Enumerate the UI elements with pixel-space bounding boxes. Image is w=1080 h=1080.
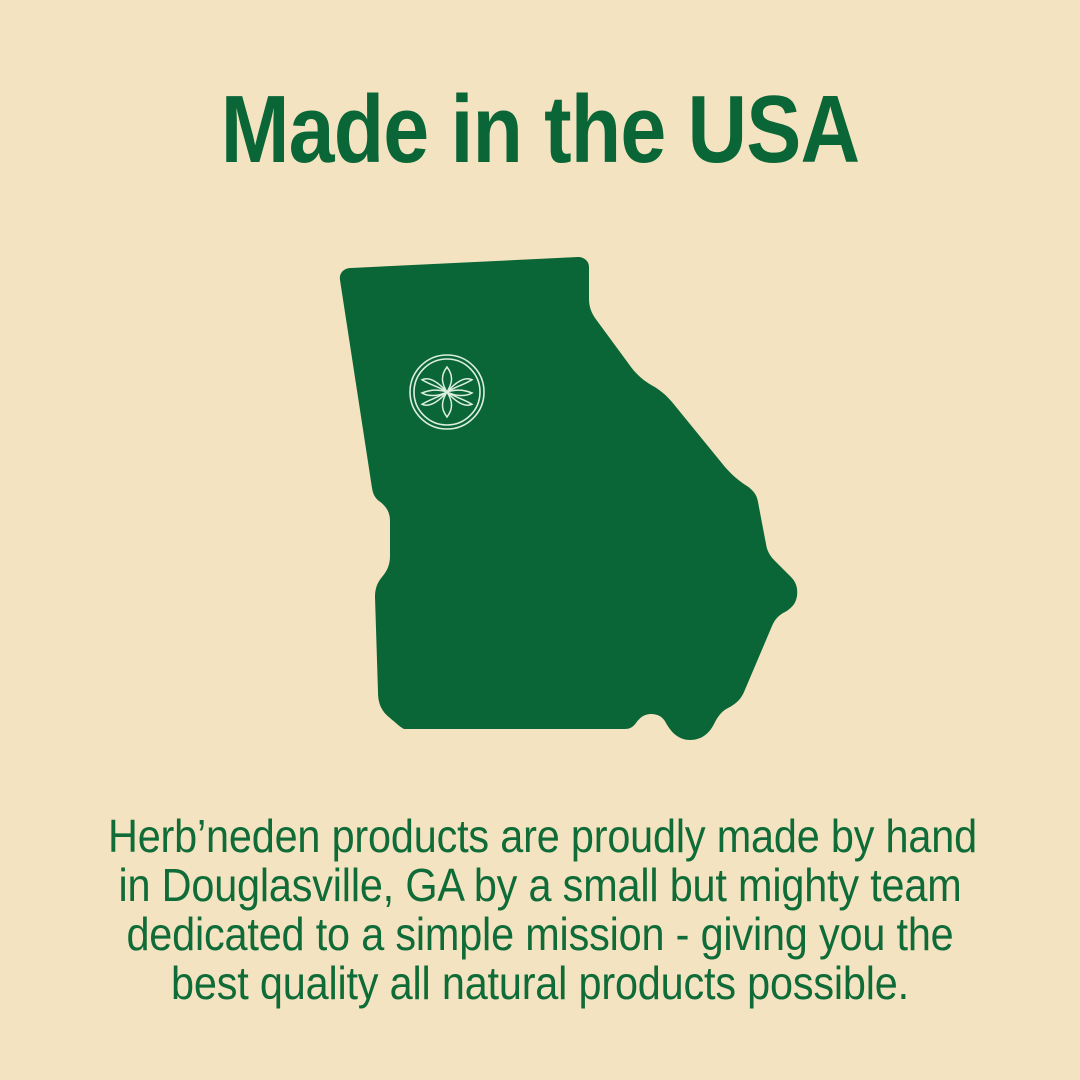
description-line-2: in Douglasville, GA by a small but might… — [108, 861, 972, 910]
description-line-4: best quality all natural products possib… — [108, 959, 972, 1008]
page-title: Made in the USA — [76, 78, 1005, 182]
georgia-map-illustration — [320, 240, 820, 760]
georgia-state-shape — [340, 257, 797, 740]
description-paragraph: Herb’neden products are proudly made by … — [108, 812, 972, 1008]
made-in-usa-graphic: Made in the USA — [0, 0, 1080, 1080]
description-line-3: dedicated to a simple mission - giving y… — [108, 910, 972, 959]
description-line-1: Herb’neden products are proudly made by … — [108, 812, 972, 861]
georgia-map-svg — [320, 240, 820, 760]
